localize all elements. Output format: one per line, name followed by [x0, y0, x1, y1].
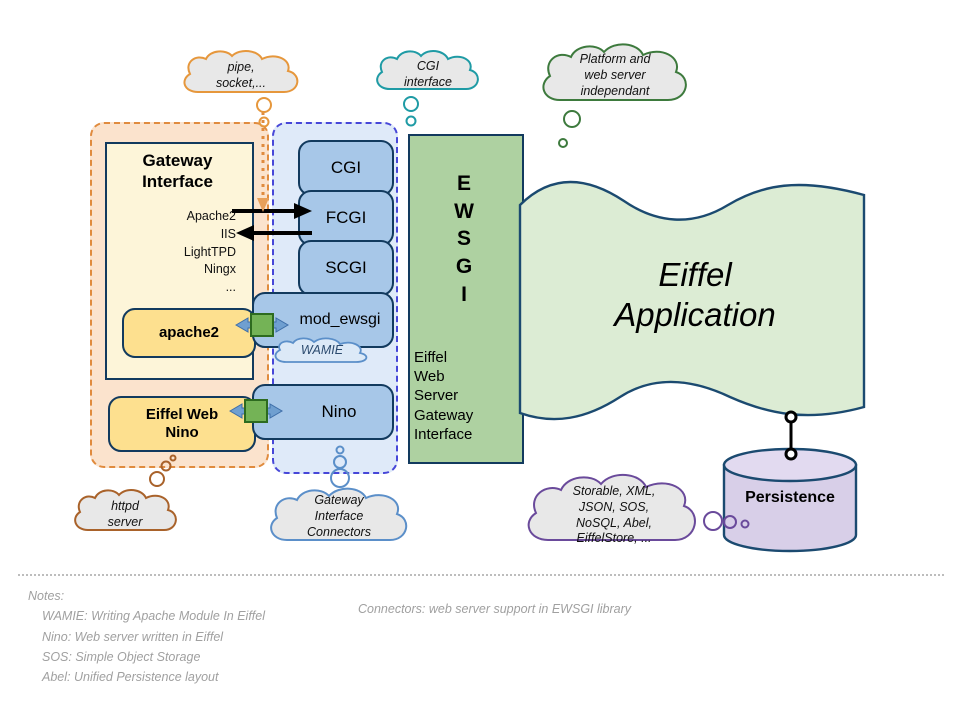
notes-item: SOS: Simple Object Storage	[28, 647, 548, 667]
notes-connectors: Connectors: web server support in EWSGI …	[358, 602, 778, 616]
notes-item: Nino: Web server written in Eiffel	[28, 627, 548, 647]
cgi-interface-bubbles-icon	[404, 97, 418, 126]
gateway-connectors-bubbles-icon	[331, 447, 349, 488]
diagram-canvas: Gateway Interface Apache2 IIS LightTPD N…	[0, 0, 960, 720]
platform-independant-bubbles-icon	[559, 111, 580, 147]
application-persistence-link	[786, 412, 796, 459]
request-arrow-icon	[232, 203, 312, 219]
notes-item: Abel: Unified Persistence layout	[28, 667, 548, 687]
nino-plug-icon	[230, 400, 282, 422]
notes-separator	[18, 574, 944, 576]
gateway-connectors-cloud	[262, 486, 416, 552]
wamie-cloud	[270, 338, 374, 368]
apache2-modewsgi-plug-icon	[236, 314, 288, 336]
pipe-socket-cloud	[176, 48, 306, 104]
httpd-bubbles-icon	[150, 456, 176, 487]
persistence-formats-cloud	[518, 472, 710, 556]
platform-independant-cloud	[534, 42, 696, 114]
httpd-server-cloud	[68, 487, 182, 541]
persistence-formats-bubbles-icon	[704, 512, 749, 530]
cgi-interface-cloud	[370, 48, 486, 100]
response-arrow-icon	[236, 225, 312, 241]
